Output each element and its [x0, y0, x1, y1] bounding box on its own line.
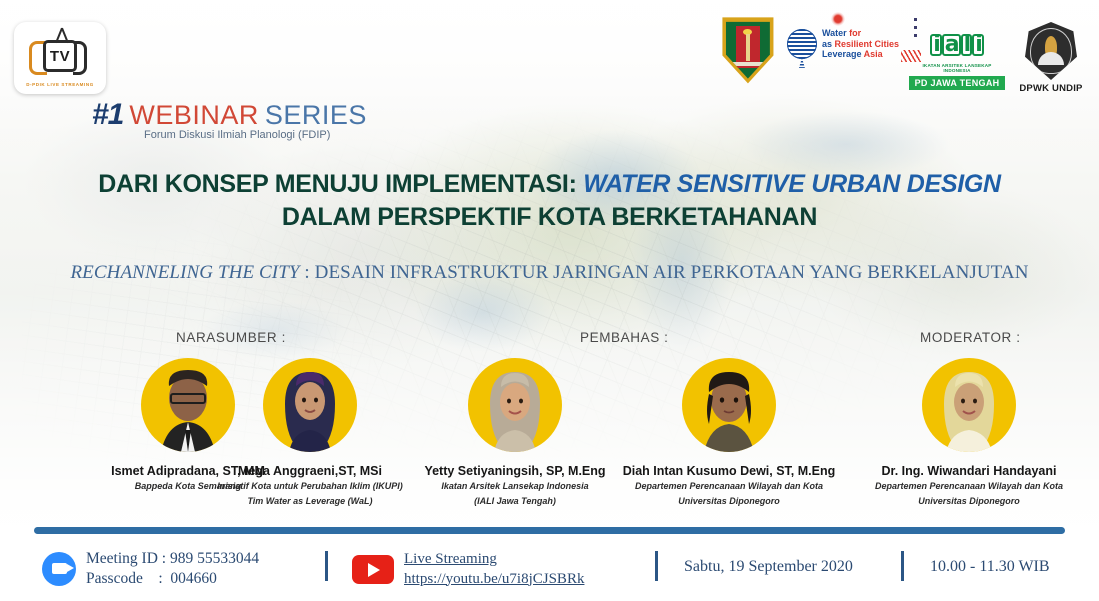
zoom-meeting-info: Meeting ID : 989 55533044 Passcode : 004… [42, 549, 259, 589]
footer-bar: Meeting ID : 989 55533044 Passcode : 004… [0, 540, 1099, 601]
title-line1-prefix: DARI KONSEP MENUJU IMPLEMENTASI: [98, 170, 583, 198]
speaker-name: Yetty Setiyaningsih, SP, M.Eng [400, 464, 630, 478]
speaker-name: Diah Intan Kusumo Dewi, ST, M.Eng [610, 464, 848, 478]
dots-decoration-icon [914, 18, 917, 37]
subtitle-rest-part: : DESAIN INFRASTRUKTUR JARINGAN AIR PERK… [300, 262, 1029, 283]
event-time: 10.00 - 11.30 WIB [930, 558, 1050, 576]
live-streaming-label: Live Streaming [404, 551, 497, 567]
wal-line2-blue: as [822, 39, 832, 49]
speaker-card: Mega Anggraeni,ST, MSi Inisiatif Kota un… [195, 358, 425, 507]
role-label-moderator: MODERATOR : [920, 330, 1021, 345]
speaker-affiliation-2: Universitas Diponegoro [610, 496, 848, 508]
footer-separator-1 [325, 551, 328, 581]
globe-icon [787, 29, 817, 59]
tower-icon [797, 58, 807, 68]
hatch-decoration-icon [901, 50, 921, 62]
speaker-card: Dr. Ing. Wiwandari Handayani Departemen … [850, 358, 1088, 507]
avatar [468, 358, 562, 452]
event-date: Sabtu, 19 September 2020 [684, 558, 853, 576]
page-title-line2: DALAM PERSPEKTIF KOTA BERKETAHANAN [0, 203, 1099, 232]
footer-divider [34, 527, 1065, 534]
undip-logo: DPWK UNDIP [1015, 16, 1087, 94]
iali-subtitle: IKATAN ARSITEK LANSEKAP INDONESIA [909, 63, 1005, 73]
sun-icon [831, 12, 845, 26]
footer-separator-2 [655, 551, 658, 581]
iali-region-band: PD JAWA TENGAH [909, 76, 1005, 90]
undip-label: DPWK UNDIP [1015, 83, 1087, 94]
iali-logo: iali IKATAN ARSITEK LANSEKAP INDONESIA P… [909, 16, 1005, 90]
wal-line3-red: Asia [864, 49, 883, 59]
speaker-card: Yetty Setiyaningsih, SP, M.Eng Ikatan Ar… [400, 358, 630, 507]
water-as-leverage-logo: Water for as Resilient Cities Leverage A… [787, 16, 899, 60]
undip-crest-icon [1025, 22, 1077, 80]
footer-separator-3 [901, 551, 904, 581]
series-word: SERIES [265, 100, 367, 131]
speaker-affiliation-2: (IALI Jawa Tengah) [400, 496, 630, 508]
role-label-pembahas: PEMBAHAS : [580, 330, 669, 345]
speaker-name: Mega Anggraeni,ST, MSi [195, 464, 425, 478]
speaker-affiliation-1: Departemen Perencanaan Wilayah dan Kota [610, 481, 848, 493]
avatar [682, 358, 776, 452]
portrait-icon [263, 364, 357, 452]
portrait-icon [682, 364, 776, 452]
youtube-icon[interactable] [352, 555, 394, 584]
webinar-number: #1 [92, 98, 123, 132]
page-title: DARI KONSEP MENUJU IMPLEMENTASI: WATER S… [0, 168, 1099, 201]
iali-mark-icon: iali [909, 28, 1005, 62]
webinar-word: WEBINAR [129, 100, 259, 131]
partner-logos: Water for as Resilient Cities Leverage A… [719, 16, 1087, 94]
tv-streaming-logo: TV D-PDIK LIVE STREAMING [14, 22, 106, 94]
webinar-poster: TV D-PDIK LIVE STREAMING Water for [0, 0, 1099, 601]
role-label-narasumber: NARASUMBER : [176, 330, 286, 345]
speaker-name: Dr. Ing. Wiwandari Handayani [850, 464, 1088, 478]
speaker-affiliation-1: Ikatan Arsitek Lansekap Indonesia [400, 481, 630, 493]
portrait-icon [468, 364, 562, 452]
speaker-card: Diah Intan Kusumo Dewi, ST, M.Eng Depart… [610, 358, 848, 507]
speaker-affiliation-2: Universitas Diponegoro [850, 496, 1088, 508]
live-streaming-url[interactable]: https://youtu.be/u7i8jCJSBRk [404, 571, 584, 587]
subtitle-italic-part: RECHANNELING THE CITY [70, 262, 299, 283]
speakers-row: Ismet Adipradana, ST, MM Bappeda Kota Se… [0, 358, 1099, 526]
speaker-affiliation-1: Departemen Perencanaan Wilayah dan Kota [850, 481, 1088, 493]
wal-line2-red: Resilient Cities [834, 39, 899, 49]
wal-line1-blue: Water [822, 28, 847, 38]
semarang-city-crest-icon [719, 16, 777, 90]
tv-logo-text: TV [43, 40, 77, 72]
live-streaming-info: Live Streaming https://youtu.be/u7i8jCJS… [352, 550, 584, 589]
title-line1-emphasis: WATER SENSITIVE URBAN DESIGN [583, 170, 1001, 198]
speaker-affiliation-2: Tim Water as Leverage (WaL) [195, 496, 425, 508]
meeting-id: Meeting ID : 989 55533044 [86, 549, 259, 569]
tv-logo-tagline: D-PDIK LIVE STREAMING [23, 82, 97, 87]
page-subtitle: RECHANNELING THE CITY : DESAIN INFRASTRU… [0, 262, 1099, 284]
meeting-passcode: Passcode : 004660 [86, 569, 259, 589]
zoom-video-icon[interactable] [42, 552, 76, 586]
portrait-icon [922, 364, 1016, 452]
webinar-series-wordmark: #1 WEBINAR SERIES Forum Diskusi Ilmiah P… [92, 98, 367, 141]
avatar [263, 358, 357, 452]
wal-line3-blue: Leverage [822, 49, 862, 59]
avatar [922, 358, 1016, 452]
speaker-affiliation-1: Inisiatif Kota untuk Perubahan Iklim (IK… [195, 481, 425, 493]
wal-line1-red: for [849, 28, 861, 38]
